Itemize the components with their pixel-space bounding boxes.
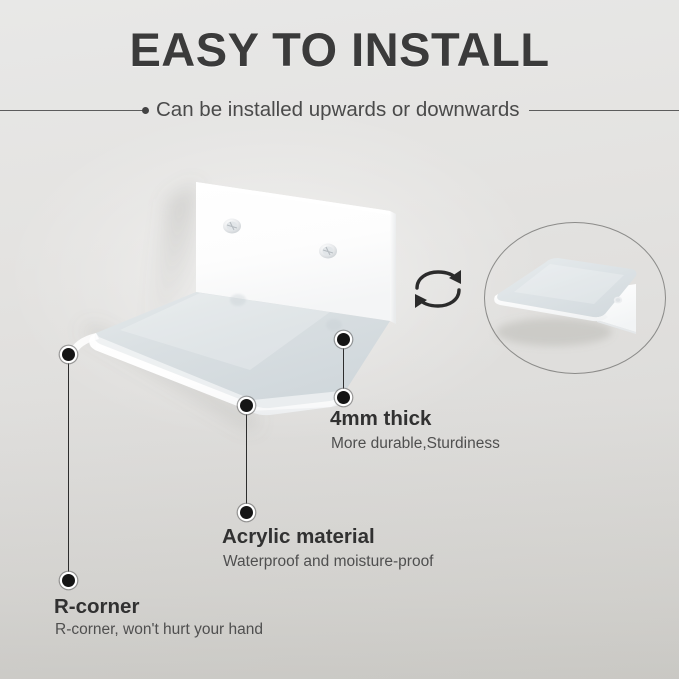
page-title: EASY TO INSTALL bbox=[0, 22, 679, 77]
callout-heading-4mm-thick: 4mm thick bbox=[330, 407, 431, 431]
leader-node-top-4mm-thick bbox=[337, 333, 350, 346]
leader-node-top-r-corner bbox=[62, 348, 75, 361]
callout-description-acrylic-material: Waterproof and moisture-proof bbox=[223, 553, 434, 571]
leader-node-top-acrylic-material bbox=[240, 399, 253, 412]
leader-node-bottom-acrylic-material bbox=[240, 506, 253, 519]
leader-line-r-corner bbox=[68, 354, 69, 580]
rule-left bbox=[0, 110, 143, 111]
product-cast-shadow bbox=[80, 182, 260, 430]
callout-heading-r-corner: R-corner bbox=[54, 595, 139, 619]
page-subtitle: Can be installed upwards or downwards bbox=[149, 98, 529, 122]
leader-line-4mm-thick bbox=[343, 339, 344, 397]
leader-line-acrylic-material bbox=[246, 405, 247, 512]
product-screw-reflections bbox=[230, 294, 342, 331]
inset-outline-ring bbox=[484, 222, 666, 374]
rotate-flip-icon bbox=[409, 262, 467, 314]
product-screw-left bbox=[223, 219, 241, 234]
leader-node-bottom-4mm-thick bbox=[337, 391, 350, 404]
callout-description-r-corner: R-corner, won't hurt your hand bbox=[55, 621, 263, 639]
product-back-panel bbox=[196, 182, 396, 324]
callout-heading-acrylic-material: Acrylic material bbox=[222, 525, 375, 549]
infographic-canvas: EASY TO INSTALL Can be installed upwards… bbox=[0, 0, 679, 679]
callout-description-4mm-thick: More durable,Sturdiness bbox=[331, 435, 500, 453]
subtitle-row: Can be installed upwards or downwards bbox=[0, 96, 679, 124]
rule-right bbox=[529, 110, 679, 111]
product-front-edge-4mm bbox=[89, 333, 349, 415]
leader-node-bottom-r-corner bbox=[62, 574, 75, 587]
product-screw-right bbox=[319, 244, 337, 259]
rule-dot-icon bbox=[142, 107, 149, 114]
inset-downward-orientation bbox=[484, 222, 666, 374]
